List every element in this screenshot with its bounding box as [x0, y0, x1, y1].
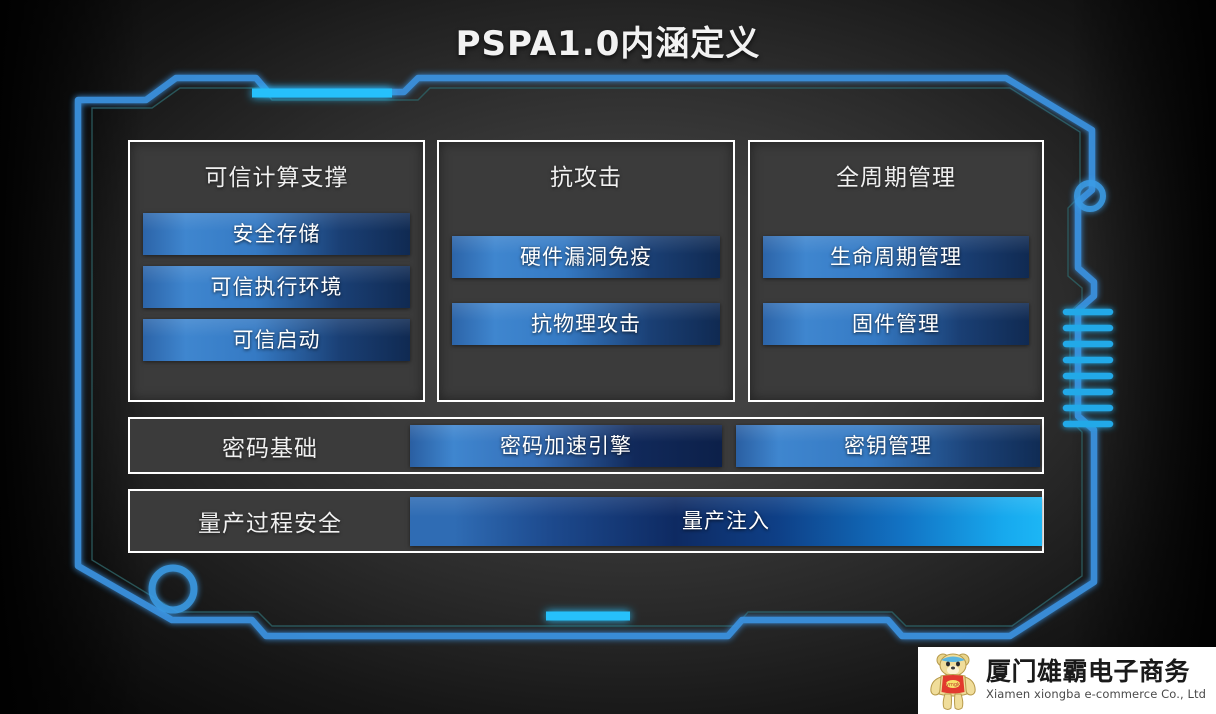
diagram-content: 可信计算支撑 安全存储 可信执行环境 可信启动 抗攻击 硬件漏洞免疫 抗物理攻击… — [0, 0, 1216, 714]
panel-lifecycle-management[interactable]: 全周期管理 生命周期管理 固件管理 — [748, 140, 1044, 402]
panel-title: 全周期管理 — [750, 142, 1042, 192]
panel-anti-attack[interactable]: 抗攻击 硬件漏洞免疫 抗物理攻击 — [437, 140, 735, 402]
chip-crypto-acceleration-engine[interactable]: 密码加速引擎 — [410, 425, 722, 467]
row-label: 量产过程安全 — [130, 504, 410, 538]
logo-text: 厦门雄霸电子商务 Xiamen xiongba e-commerce Co., … — [986, 659, 1206, 701]
chip-hardware-vulnerability-immunity[interactable]: 硬件漏洞免疫 — [452, 236, 720, 278]
company-logo[interactable]: ymgk 厦门雄霸电子商务 Xiamen xiongba e-commerce … — [918, 647, 1216, 714]
svg-text:ymgk: ymgk — [946, 682, 960, 688]
bear-mascot-icon: ymgk — [924, 651, 982, 711]
panel-items: 硬件漏洞免疫 抗物理攻击 — [439, 236, 733, 345]
chip-trusted-execution-environment[interactable]: 可信执行环境 — [143, 266, 410, 308]
panel-trusted-computing[interactable]: 可信计算支撑 安全存储 可信执行环境 可信启动 — [128, 140, 425, 402]
logo-company-name-cn: 厦门雄霸电子商务 — [986, 659, 1206, 685]
chip-secure-storage[interactable]: 安全存储 — [143, 213, 410, 255]
chip-lifecycle-management[interactable]: 生命周期管理 — [763, 236, 1029, 278]
logo-company-name-en: Xiamen xiongba e-commerce Co., Ltd — [986, 686, 1206, 702]
panel-items: 安全存储 可信执行环境 可信启动 — [130, 213, 423, 361]
chip-trusted-boot[interactable]: 可信启动 — [143, 319, 410, 361]
panel-title: 可信计算支撑 — [130, 142, 423, 192]
chip-firmware-management[interactable]: 固件管理 — [763, 303, 1029, 345]
row-mass-production-security[interactable]: 量产过程安全 量产注入 — [128, 489, 1044, 553]
chip-mass-production-injection[interactable]: 量产注入 — [410, 497, 1042, 546]
page-title: PSPA1.0内涵定义 — [0, 16, 1216, 65]
chip-anti-physical-attack[interactable]: 抗物理攻击 — [452, 303, 720, 345]
panel-title: 抗攻击 — [439, 142, 733, 192]
panel-items: 生命周期管理 固件管理 — [750, 236, 1042, 345]
chip-key-management[interactable]: 密钥管理 — [736, 425, 1040, 467]
row-label: 密码基础 — [130, 429, 410, 463]
row-crypto-foundation[interactable]: 密码基础 密码加速引擎 密钥管理 — [128, 417, 1044, 474]
